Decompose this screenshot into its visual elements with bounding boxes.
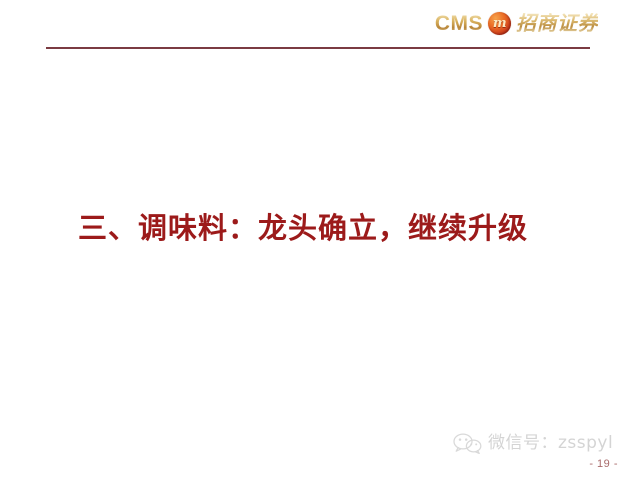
wechat-watermark: 微信号：zsspyl	[452, 431, 613, 455]
page-number: - 19 -	[0, 459, 618, 470]
corporate-logo: CMS m 招商证券	[435, 8, 598, 38]
slide-canvas: CMS m 招商证券 三、调味料：龙头确立，继续升级 微信号：zsspyl	[0, 0, 640, 480]
header-divider	[46, 47, 590, 49]
logo-chinese-text: 招商证券	[516, 13, 598, 33]
wechat-id-text: 微信号：zsspyl	[488, 435, 613, 452]
emblem-glyph: m	[488, 12, 511, 35]
cms-circular-emblem-icon: m	[488, 12, 511, 35]
logo-latin-text: CMS	[435, 13, 483, 34]
wechat-icon	[452, 431, 482, 455]
section-title: 三、调味料：龙头确立，继续升级	[78, 212, 528, 245]
